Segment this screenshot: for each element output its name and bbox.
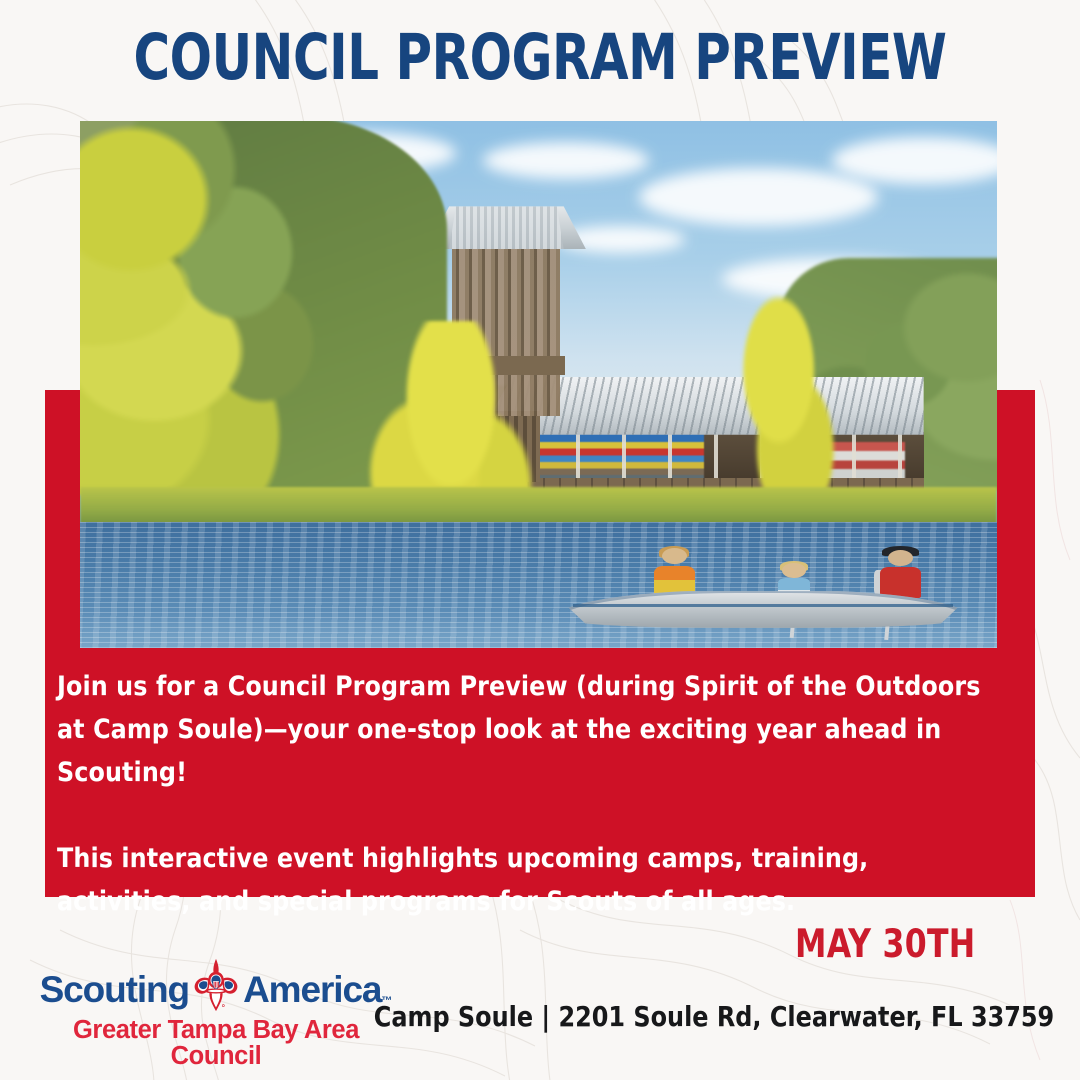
logo-word-america: America xyxy=(243,971,381,1008)
description-paragraph-1: Join us for a Council Program Preview (d… xyxy=(57,665,1002,794)
page-title: COUNCIL PROGRAM PREVIEW xyxy=(65,26,1015,89)
event-location: Camp Soule | 2201 Soule Rd, Clearwater, … xyxy=(374,1003,1054,1031)
head xyxy=(888,550,913,566)
event-description: Join us for a Council Program Preview (d… xyxy=(57,665,1002,923)
paddler-child-front xyxy=(648,548,702,597)
yellow-flowering-tree xyxy=(713,295,851,516)
head xyxy=(662,548,688,565)
logo-wordmark: Scouting xyxy=(30,966,402,1012)
cloud xyxy=(639,168,877,226)
logo-word-scouting: Scouting xyxy=(40,971,189,1008)
head xyxy=(782,563,806,578)
canoe-gunwale-stripe xyxy=(573,604,953,607)
paddler-adult-stern xyxy=(870,544,928,598)
canoe xyxy=(557,553,970,640)
poster-canvas: COUNCIL PROGRAM PREVIEW xyxy=(0,0,1080,1080)
fleur-de-lis-icon xyxy=(193,958,239,1012)
tower-roof xyxy=(427,203,586,250)
event-date: MAY 30TH xyxy=(795,925,975,964)
cloud xyxy=(483,142,648,179)
council-name: Greater Tampa Bay Area Council xyxy=(30,1018,402,1069)
council-logo: Scouting xyxy=(30,966,402,1069)
description-paragraph-2: This interactive event highlights upcomi… xyxy=(57,837,1002,923)
hero-photo xyxy=(80,121,997,648)
